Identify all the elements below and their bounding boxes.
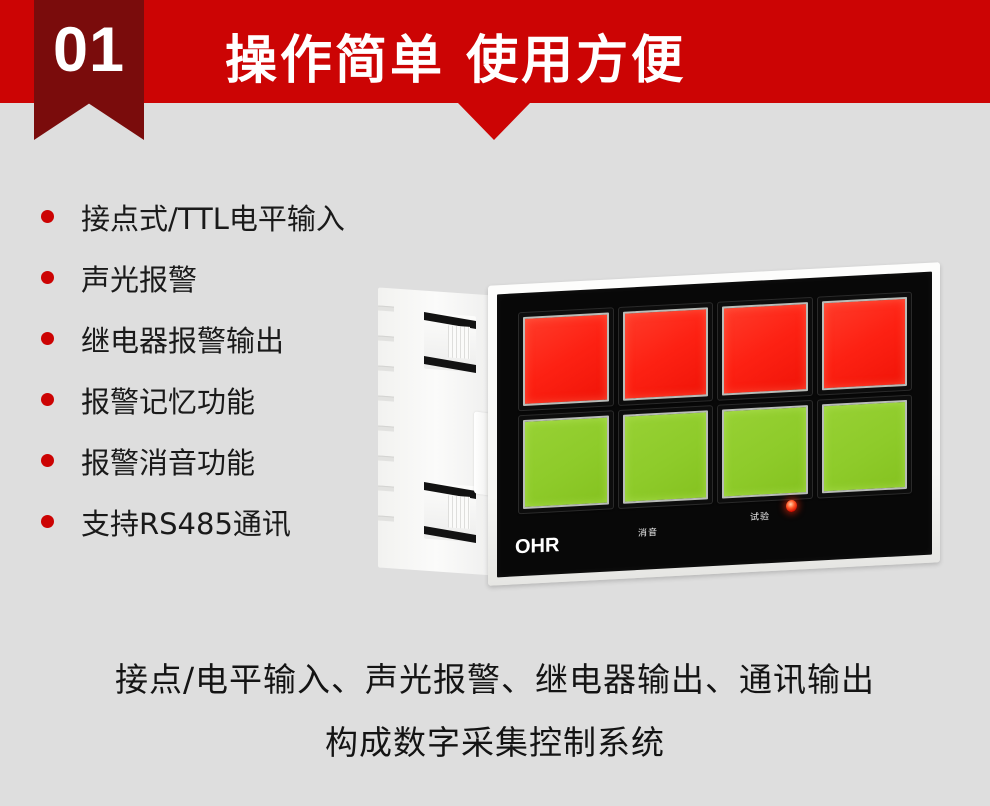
alarm-lens (722, 302, 808, 395)
housing-fin (378, 365, 394, 371)
banner-arrow-icon (458, 103, 530, 140)
alarm-lens (523, 416, 609, 509)
list-item: 报警记忆功能 (30, 369, 430, 430)
feature-label: 支持RS485通讯 (81, 501, 291, 543)
caption-line-1: 接点/电平输入、声光报警、继电器输出、通讯输出 (0, 648, 990, 711)
product-device-image: 消音 试验 OHR (378, 270, 948, 590)
housing-fin (378, 455, 394, 461)
clip-ribs (448, 495, 470, 529)
mute-button-label[interactable]: 消音 (638, 525, 658, 539)
housing-fin (378, 515, 394, 521)
alarm-window-green-4[interactable] (818, 396, 912, 498)
page-title: 操作简单 使用方便 (225, 18, 686, 93)
test-button-label[interactable]: 试验 (750, 509, 770, 523)
section-number-ribbon: 01 (34, 0, 144, 140)
bullet-dot-icon (41, 271, 54, 284)
alarm-lens (822, 297, 908, 390)
housing-fin (378, 425, 394, 431)
alarm-lens (722, 405, 808, 498)
alarm-window-green-2[interactable] (619, 406, 713, 508)
device-front-bezel: 消音 试验 OHR (488, 262, 940, 586)
list-item: 继电器报警输出 (30, 308, 430, 369)
bullet-dot-icon (41, 454, 54, 467)
bottom-caption: 接点/电平输入、声光报警、继电器输出、通讯输出 构成数字采集控制系统 (0, 648, 990, 774)
alarm-window-red-3[interactable] (718, 298, 812, 400)
feature-label: 接点式/TTL电平输入 (81, 196, 345, 238)
housing-fin (378, 395, 394, 401)
mounting-clip (424, 483, 476, 543)
list-item: 接点式/TTL电平输入 (30, 186, 430, 247)
feature-label: 声光报警 (81, 257, 197, 299)
alarm-lens (623, 307, 709, 400)
brand-logo: OHR (515, 534, 559, 559)
clip-ribs (448, 325, 470, 359)
alarm-window-red-2[interactable] (619, 303, 713, 405)
feature-list: 接点式/TTL电平输入 声光报警 继电器报警输出 报警记忆功能 报警消音功能 支… (30, 186, 430, 552)
device-panel-face: 消音 试验 OHR (497, 272, 932, 578)
section-number: 01 (53, 19, 125, 82)
bullet-dot-icon (41, 393, 54, 406)
caption-line-2: 构成数字采集控制系统 (0, 711, 990, 774)
alarm-window-green-1[interactable] (519, 411, 613, 513)
alarm-lens (623, 410, 709, 503)
alarm-lens (822, 400, 908, 493)
feature-label: 继电器报警输出 (81, 318, 284, 360)
housing-fin (378, 335, 394, 341)
housing-fin (378, 485, 394, 491)
alarm-window-green-3[interactable] (718, 401, 812, 503)
list-item: 支持RS485通讯 (30, 491, 430, 552)
alarm-window-grid (519, 293, 911, 514)
bullet-dot-icon (41, 210, 54, 223)
housing-fin (378, 305, 394, 311)
list-item: 报警消音功能 (30, 430, 430, 491)
bullet-dot-icon (41, 515, 54, 528)
bullet-dot-icon (41, 332, 54, 345)
alarm-lens (523, 313, 609, 406)
feature-label: 报警消音功能 (81, 440, 255, 482)
list-item: 声光报警 (30, 247, 430, 308)
feature-label: 报警记忆功能 (81, 379, 255, 421)
alarm-window-red-4[interactable] (818, 293, 912, 395)
mounting-clip (424, 313, 476, 373)
alarm-window-red-1[interactable] (519, 308, 613, 410)
power-led-icon (786, 500, 797, 513)
